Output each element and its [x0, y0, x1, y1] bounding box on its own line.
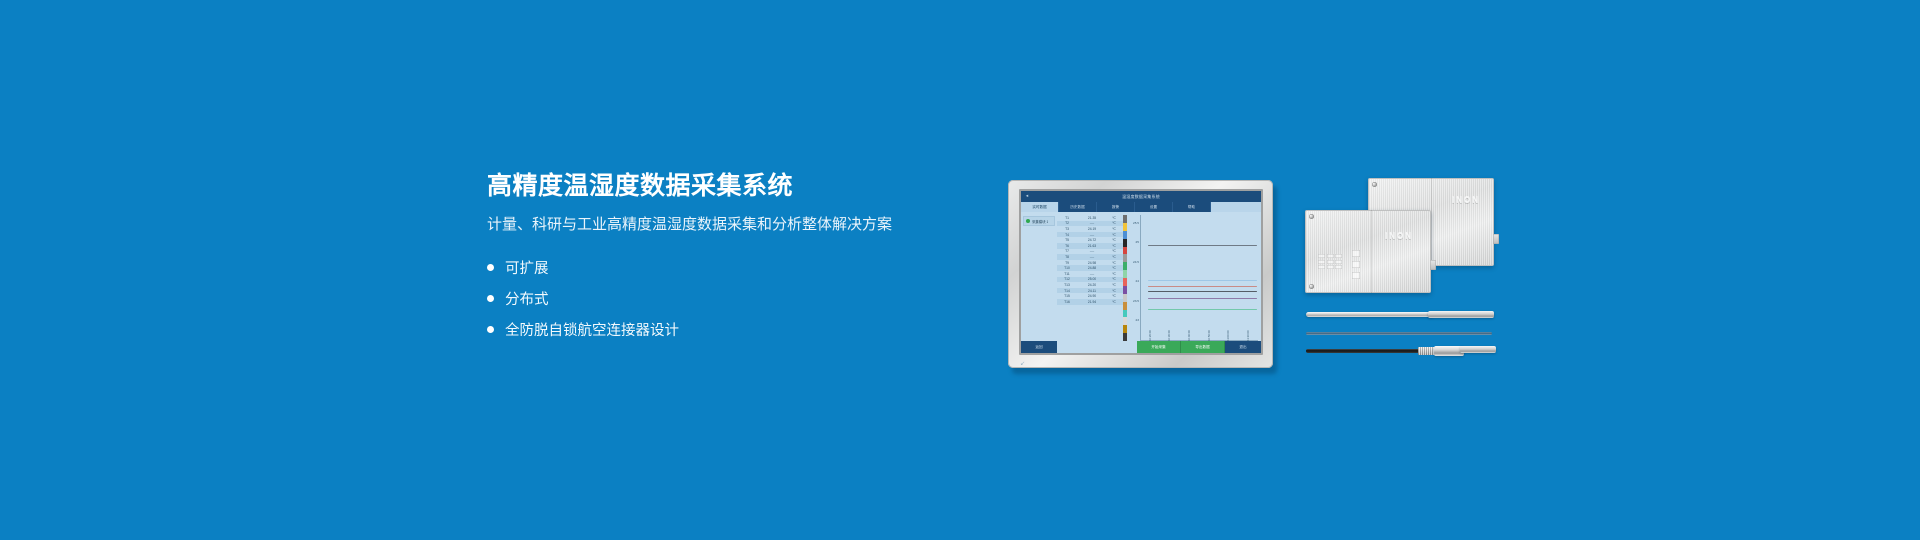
x-axis-tick-label: 10:30:00 — [1167, 326, 1171, 341]
value-cell: 21.35 — [1077, 216, 1107, 220]
unit-cell: ℃ — [1107, 216, 1121, 220]
probe-tip — [1428, 311, 1494, 318]
y-axis-tick-label: 23 — [1136, 318, 1139, 322]
app-footer: 返回 开始采集 导出数据 退出 — [1021, 341, 1261, 353]
temperature-probes — [1306, 308, 1496, 362]
tab-label: 帮助 — [1188, 205, 1195, 210]
feature-label: 全防脱自锁航空连接器设计 — [505, 319, 679, 340]
list-item: 分布式 — [487, 283, 957, 313]
tab-history-data[interactable]: 历史数据 — [1059, 202, 1097, 212]
exit-button[interactable]: 退出 — [1225, 341, 1261, 353]
channel-cell: T5 — [1057, 238, 1077, 242]
panel-pc-device: ◄ 温湿度数据采集系统 实时数据 历史数据 报警 — [1008, 180, 1273, 368]
unit-cell: ℃ — [1107, 266, 1121, 270]
module-seam — [1431, 178, 1432, 266]
value-cell: 24.11 — [1077, 289, 1107, 293]
table-row[interactable]: T1621.94℃ — [1057, 299, 1123, 305]
device-screen-frame: ◄ 温湿度数据采集系统 实时数据 历史数据 报警 — [1019, 189, 1263, 355]
chart-series-line — [1148, 286, 1257, 287]
back-button[interactable]: 返回 — [1021, 341, 1057, 353]
channel-cell: T16 — [1057, 300, 1077, 304]
feature-label: 分布式 — [505, 288, 549, 309]
channel-cell: T14 — [1057, 289, 1077, 293]
status-led-icon — [1026, 219, 1030, 223]
mounting-lug — [1430, 260, 1436, 270]
probe-cable-black — [1306, 349, 1424, 353]
channel-cell: T15 — [1057, 294, 1077, 298]
tab-settings[interactable]: 设置 — [1135, 202, 1173, 212]
unit-cell: ℃ — [1107, 233, 1121, 237]
unit-cell: ℃ — [1107, 294, 1121, 298]
chart-plot-area — [1141, 215, 1258, 341]
start-acquisition-label: 开始采集 — [1151, 345, 1165, 350]
value-cell: 24.19 — [1077, 227, 1107, 231]
unit-cell: ℃ — [1107, 221, 1121, 225]
unit-cell: ℃ — [1107, 300, 1121, 304]
x-axis-tick-label: 10:20:00 — [1148, 326, 1152, 341]
channel-cell: T11 — [1057, 272, 1077, 276]
mounting-lug — [1493, 234, 1499, 244]
hero-copy-block: 高精度温湿度数据采集系统 计量、科研与工业高精度温湿度数据采集和分析整体解决方案… — [487, 172, 957, 345]
tab-label: 设置 — [1150, 205, 1157, 210]
tab-label: 报警 — [1112, 205, 1119, 210]
app-body: 采集模块 1 T121.35℃T2----℃T324.19℃T4----℃T52… — [1021, 212, 1261, 341]
export-data-button[interactable]: 导出数据 — [1181, 341, 1225, 353]
page-title: 高精度温湿度数据采集系统 — [487, 172, 957, 201]
unit-cell: ℃ — [1107, 283, 1121, 287]
acquisition-modules: INON INON — [1305, 178, 1495, 293]
chart-x-axis: 10:20:0010:30:0010:40:0010:50:0011:00:00… — [1140, 326, 1258, 341]
chart-y-axis: 25.52524.52423.523 — [1127, 215, 1141, 341]
tab-label: 实时数据 — [1032, 205, 1046, 210]
chart-series-line — [1148, 298, 1257, 299]
channel-cell: T7 — [1057, 249, 1077, 253]
probe-rod — [1306, 312, 1434, 317]
x-axis-tick-label: 10:50:00 — [1207, 326, 1211, 341]
unit-cell: ℃ — [1107, 289, 1121, 293]
unit-cell: ℃ — [1107, 261, 1121, 265]
bullet-dot-icon — [487, 295, 494, 302]
value-cell: 21.94 — [1077, 300, 1107, 304]
screw-icon — [1372, 182, 1377, 187]
sidebar-item-module[interactable]: 采集模块 1 — [1023, 216, 1055, 226]
value-cell: 24.72 — [1077, 238, 1107, 242]
app-titlebar: ◄ 温湿度数据采集系统 — [1021, 191, 1261, 202]
chart-series-line — [1148, 280, 1257, 281]
exit-button-label: 退出 — [1239, 345, 1246, 350]
value-cell: 24.98 — [1077, 261, 1107, 265]
product-banner: 高精度温湿度数据采集系统 计量、科研与工业高精度温湿度数据采集和分析整体解决方案… — [0, 0, 1920, 540]
y-axis-tick-label: 25.5 — [1133, 221, 1139, 225]
chart-series-line — [1148, 245, 1257, 246]
footer-spacer — [1057, 341, 1137, 353]
list-item: 全防脱自锁航空连接器设计 — [487, 314, 957, 344]
x-axis-tick-label: 10:40:00 — [1187, 326, 1191, 341]
channel-cell: T9 — [1057, 261, 1077, 265]
channel-cell: T13 — [1057, 283, 1077, 287]
trend-chart: 25.52524.52423.523 10:20:0010:30:0010:40… — [1127, 212, 1261, 341]
device-sidebar: 采集模块 1 — [1021, 212, 1057, 341]
bullet-dot-icon — [487, 264, 494, 271]
back-button-label: 返回 — [1035, 345, 1042, 350]
value-cell: 21.63 — [1077, 244, 1107, 248]
channel-cell: T3 — [1057, 227, 1077, 231]
y-axis-tick-label: 24.5 — [1133, 260, 1139, 264]
page-subtitle: 计量、科研与工业高精度温湿度数据采集和分析整体解决方案 — [487, 215, 957, 235]
channel-cell: T10 — [1057, 266, 1077, 270]
back-arrow-icon[interactable]: ◄ — [1025, 194, 1029, 198]
y-axis-tick-label: 23.5 — [1133, 299, 1139, 303]
unit-cell: ℃ — [1107, 272, 1121, 276]
bullet-dot-icon — [487, 326, 494, 333]
x-axis-tick-label: 11:00:00 — [1226, 326, 1230, 341]
feature-list: 可扩展 分布式 全防脱自锁航空连接器设计 — [487, 252, 957, 344]
tab-realtime-data[interactable]: 实时数据 — [1021, 202, 1059, 212]
probe-cable-blue — [1306, 332, 1492, 335]
unit-cell: ℃ — [1107, 249, 1121, 253]
tab-alarm[interactable]: 报警 — [1097, 202, 1135, 212]
channel-table: T121.35℃T2----℃T324.19℃T4----℃T524.72℃T6… — [1057, 212, 1123, 341]
device-bezel: ◄ 温湿度数据采集系统 实时数据 历史数据 报警 — [1008, 180, 1273, 368]
channel-cell: T2 — [1057, 221, 1077, 225]
x-axis-tick-label: 11:10:00 — [1246, 326, 1250, 341]
app-title: 温湿度数据采集系统 — [1122, 194, 1160, 200]
value-cell: 24.20 — [1077, 283, 1107, 287]
app-tabbar: 实时数据 历史数据 报警 设置 帮助 — [1021, 202, 1261, 212]
module-seam — [1371, 210, 1372, 293]
value-cell: 24.88 — [1077, 266, 1107, 270]
screw-icon — [1309, 284, 1314, 289]
channel-cell: T4 — [1057, 233, 1077, 237]
acquisition-module-front: INON — [1305, 210, 1431, 293]
value-cell: ---- — [1077, 233, 1107, 237]
value-cell: ---- — [1077, 249, 1107, 253]
export-data-label: 导出数据 — [1195, 345, 1209, 350]
list-item: 可扩展 — [487, 252, 957, 282]
tabbar-filler — [1211, 202, 1261, 212]
unit-cell: ℃ — [1107, 255, 1121, 259]
value-cell: 24.90 — [1077, 294, 1107, 298]
unit-cell: ℃ — [1107, 227, 1121, 231]
chart-series-line — [1148, 309, 1257, 310]
y-axis-tick-label: 25 — [1136, 240, 1139, 244]
unit-cell: ℃ — [1107, 277, 1121, 281]
sidebar-item-label: 采集模块 1 — [1032, 219, 1048, 224]
brand-logo: INON — [1385, 232, 1413, 241]
value-cell: 25.00 — [1077, 277, 1107, 281]
channel-cell: T6 — [1057, 244, 1077, 248]
channel-cell: T1 — [1057, 216, 1077, 220]
device-screen: ◄ 温湿度数据采集系统 实时数据 历史数据 报警 — [1021, 191, 1261, 353]
module-label-grid — [1318, 254, 1342, 269]
tab-help[interactable]: 帮助 — [1173, 202, 1211, 212]
channel-cell: T8 — [1057, 255, 1077, 259]
module-connector-ports — [1352, 250, 1360, 279]
value-cell: ---- — [1077, 221, 1107, 225]
y-axis-tick-label: 24 — [1136, 279, 1139, 283]
feature-label: 可扩展 — [505, 257, 549, 278]
probe-sensor-head — [1460, 346, 1496, 353]
value-cell: ---- — [1077, 272, 1107, 276]
start-acquisition-button[interactable]: 开始采集 — [1137, 341, 1181, 353]
unit-cell: ℃ — [1107, 244, 1121, 248]
channel-cell: T12 — [1057, 277, 1077, 281]
screw-icon — [1309, 214, 1314, 219]
unit-cell: ℃ — [1107, 238, 1121, 242]
brand-logo: INON — [1452, 196, 1480, 205]
value-cell: ---- — [1077, 255, 1107, 259]
tab-label: 历史数据 — [1070, 205, 1084, 210]
bezel-indicator-icon: ↙ — [1020, 362, 1026, 366]
chart-series-line — [1148, 291, 1257, 292]
